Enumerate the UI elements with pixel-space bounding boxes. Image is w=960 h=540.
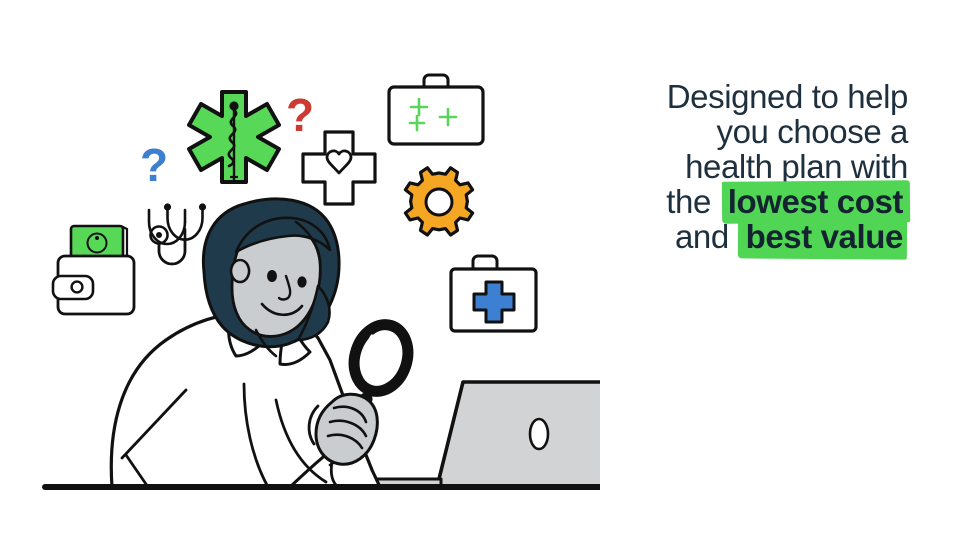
headline-line-4-prefix: the [666,183,719,220]
medical-bag-icon [389,75,483,144]
headline-line-2: you choose a [578,113,908,150]
poster-canvas: ? ? [0,0,960,540]
star-of-life-icon [189,92,279,182]
question-mark-red: ? [286,89,314,141]
headline-line-3: health plan with [578,148,908,185]
headline-line-1: Designed to help [578,78,908,115]
wallet-with-cash-icon [53,226,134,314]
svg-text:?: ? [140,139,168,191]
first-aid-kit-icon [451,256,536,331]
headline-line-5: and best value [578,218,908,255]
stethoscope-icon [149,203,206,264]
highlight-best-value: best value [740,220,908,253]
gear-icon [405,168,472,235]
cross-with-heart-icon [303,132,375,204]
question-mark-blue: ? [140,139,168,191]
highlight-lowest-cost: lowest cost [722,185,908,218]
svg-text:?: ? [286,89,314,141]
illustration: ? ? [0,0,600,540]
headline-block: Designed to help you choose a health pla… [578,78,908,255]
